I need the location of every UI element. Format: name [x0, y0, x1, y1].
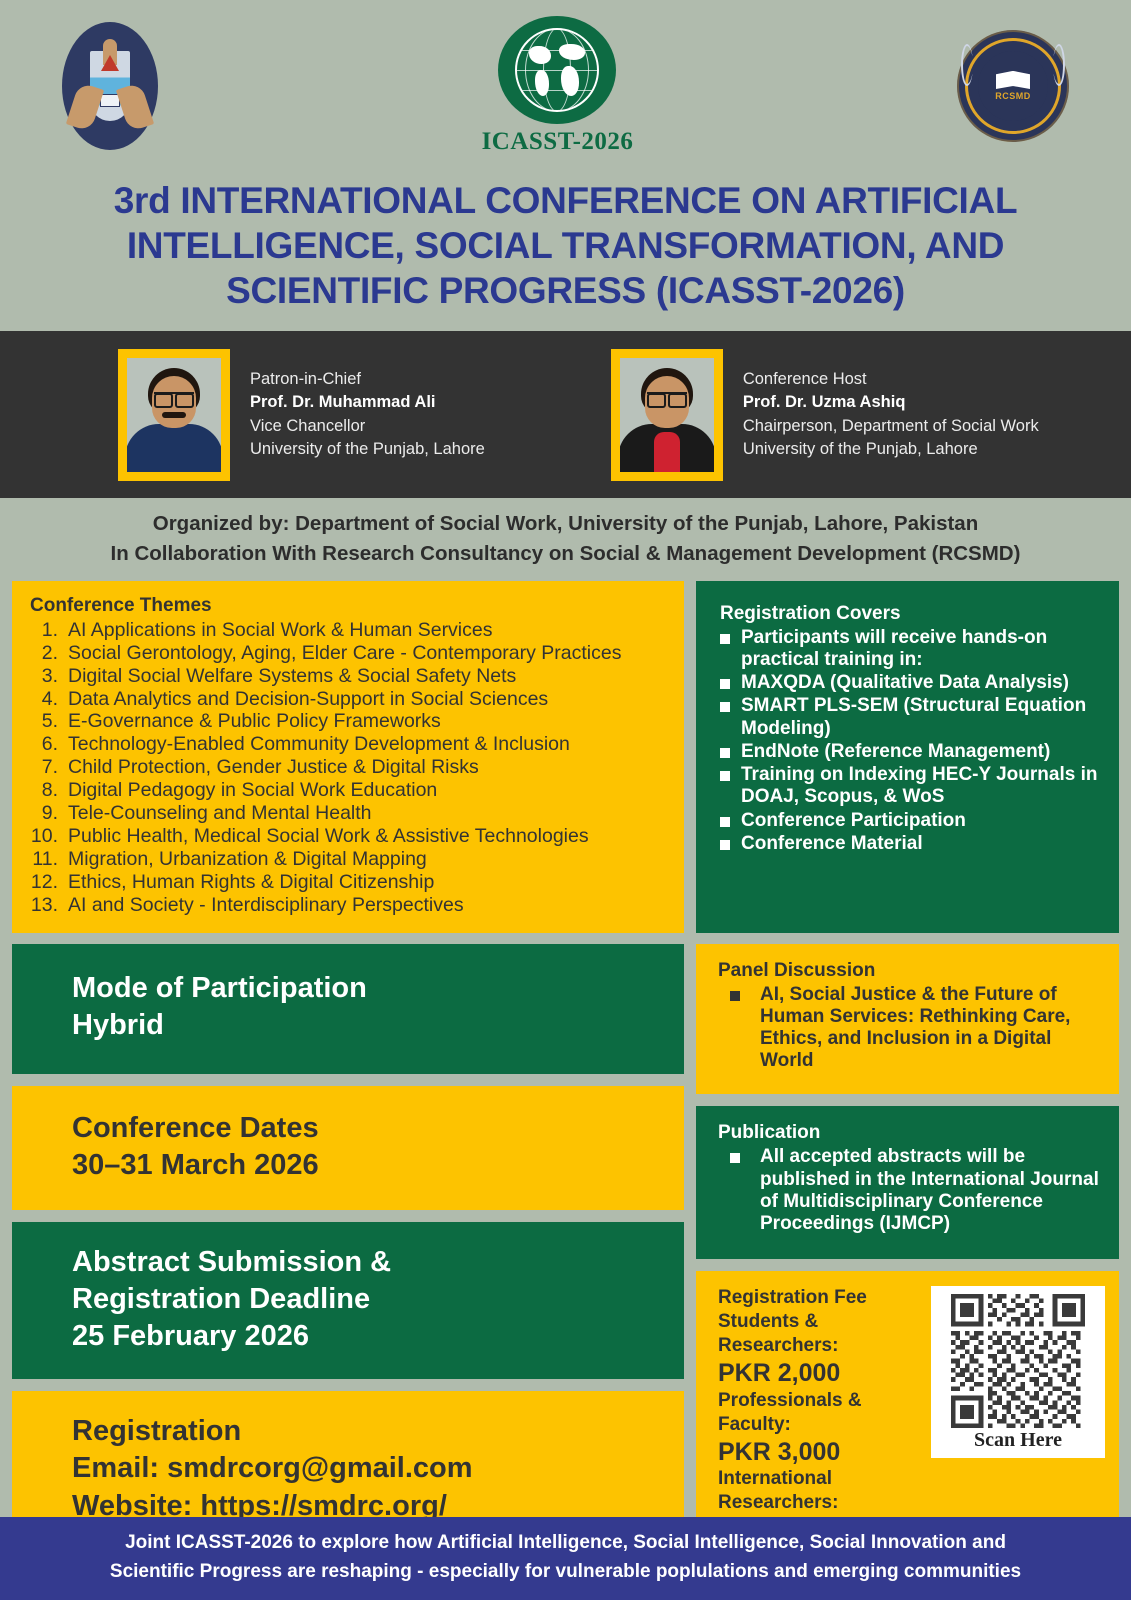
qr-code-icon[interactable] [940, 1294, 1096, 1428]
list-item: Training on Indexing HEC-Y Journals in D… [720, 764, 1101, 808]
rcsmd-logo-label: RCSMD [995, 91, 1031, 101]
deadline-value: 25 February 2026 [72, 1318, 662, 1355]
person-patron-in-chief: Patron-in-Chief Prof. Dr. Muhammad Ali V… [118, 349, 485, 481]
theme-text: Public Health, Medical Social Work & Ass… [68, 825, 589, 848]
theme-text: Data Analytics and Decision-Support in S… [68, 688, 548, 711]
footer-line1: Joint ICASST-2026 to explore how Artific… [24, 1529, 1107, 1558]
list-item: 8.Digital Pedagogy in Social Work Educat… [30, 779, 666, 802]
list-item: 6.Technology-Enabled Community Developme… [30, 733, 666, 756]
panel-discussion-panel: Panel Discussion AI, Social Justice & th… [696, 944, 1119, 1095]
list-item: 10.Public Health, Medical Social Work & … [30, 825, 666, 848]
organized-by-line2: In Collaboration With Research Consultan… [20, 539, 1111, 569]
list-item: All accepted abstracts will be published… [718, 1146, 1101, 1235]
list-item: Conference Participation [720, 810, 1101, 832]
mode-of-participation-title: Mode of Participation [72, 970, 662, 1007]
theme-number: 8. [30, 779, 68, 802]
list-item: EndNote (Reference Management) [720, 741, 1101, 763]
mode-of-participation-block: Mode of Participation Hybrid [12, 944, 684, 1074]
list-item: 12.Ethics, Human Rights & Digital Citize… [30, 871, 666, 894]
theme-text: Ethics, Human Rights & Digital Citizensh… [68, 871, 434, 894]
theme-number: 3. [30, 665, 68, 688]
fee-tier-label: International Researchers: [718, 1467, 923, 1515]
page-title: 3rd INTERNATIONAL CONFERENCE ON ARTIFICI… [0, 172, 1131, 331]
theme-text: Tele-Counseling and Mental Health [68, 802, 372, 825]
theme-number: 5. [30, 710, 68, 733]
list-item: 5.E-Governance & Public Policy Framework… [30, 710, 666, 733]
conference-dates-title: Conference Dates [72, 1110, 662, 1147]
content-row-themes: Conference Themes 1.AI Applications in S… [0, 581, 1131, 933]
theme-text: Social Gerontology, Aging, Elder Care - … [68, 642, 621, 665]
avatar [118, 349, 230, 481]
fee-tier-label: Professionals & Faculty: [718, 1389, 923, 1437]
avatar [611, 349, 723, 481]
fee-tier-amount: PKR 3,000 [718, 1437, 923, 1468]
theme-number: 12. [30, 871, 68, 894]
icasst-logo-label: ICASST-2026 [482, 128, 634, 156]
rcsmd-logo-icon: RCSMD [957, 30, 1069, 142]
list-item: 7.Child Protection, Gender Justice & Dig… [30, 756, 666, 779]
registration-covers-list: Participants will receive hands-on pract… [720, 627, 1101, 855]
registration-covers-title: Registration Covers [720, 603, 1101, 625]
theme-number: 10. [30, 825, 68, 848]
theme-number: 7. [30, 756, 68, 779]
theme-text: Child Protection, Gender Justice & Digit… [68, 756, 479, 779]
panel-discussion-title: Panel Discussion [718, 960, 1101, 982]
conference-themes-list: 1.AI Applications in Social Work & Human… [30, 619, 666, 917]
logo-bar: ICASST-2026 RCSMD [0, 0, 1131, 172]
conference-themes-panel: Conference Themes 1.AI Applications in S… [12, 581, 684, 933]
globe-icon [498, 16, 616, 124]
registration-title: Registration [72, 1413, 662, 1450]
bullet-square-icon [720, 840, 730, 850]
person-name: Prof. Dr. Uzma Ashiq [743, 391, 1039, 414]
person-conference-host: Conference Host Prof. Dr. Uzma Ashiq Cha… [611, 349, 1039, 481]
publication-title: Publication [718, 1122, 1101, 1144]
theme-number: 13. [30, 894, 68, 917]
list-item: Conference Material [720, 833, 1101, 855]
deadline-title-line2: Registration Deadline [72, 1281, 662, 1318]
person-name: Prof. Dr. Muhammad Ali [250, 391, 485, 414]
qr-code-box[interactable]: Scan Here [931, 1286, 1105, 1458]
bullet-square-icon [720, 679, 730, 689]
theme-text: AI and Society - Interdisciplinary Persp… [68, 894, 464, 917]
person-position: Vice Chancellor [250, 415, 485, 438]
theme-number: 4. [30, 688, 68, 711]
fee-tier-amount: PKR 2,000 [718, 1358, 923, 1389]
footer-banner: Joint ICASST-2026 to explore how Artific… [0, 1517, 1131, 1600]
bullet-square-icon [730, 1153, 740, 1163]
registration-email[interactable]: Email: smdrcorg@gmail.com [72, 1450, 662, 1487]
list-item: 9.Tele-Counseling and Mental Health [30, 802, 666, 825]
bullet-square-icon [720, 748, 730, 758]
conference-poster: ICASST-2026 RCSMD 3rd INTERNATIONAL CONF… [0, 0, 1131, 1600]
organized-by-line1: Organized by: Department of Social Work,… [20, 509, 1111, 539]
rcsmd-logo-slot: RCSMD [957, 30, 1069, 142]
bullet-square-icon [730, 991, 740, 1001]
theme-number: 1. [30, 619, 68, 642]
conference-themes-title: Conference Themes [30, 595, 666, 617]
theme-text: E-Governance & Public Policy Frameworks [68, 710, 441, 733]
fee-tier-label: Students & Researchers: [718, 1310, 923, 1358]
theme-text: Digital Pedagogy in Social Work Educatio… [68, 779, 437, 802]
list-item: 1.AI Applications in Social Work & Human… [30, 619, 666, 642]
university-of-the-punjab-crest-icon [62, 22, 158, 150]
content-row-details: Mode of Participation Hybrid Conference … [0, 944, 1131, 1600]
theme-text: Migration, Urbanization & Digital Mappin… [68, 848, 427, 871]
person-position: Chairperson, Department of Social Work [743, 415, 1039, 438]
person-role: Patron-in-Chief [250, 368, 485, 391]
university-of-the-punjab-crest-slot [62, 22, 158, 150]
list-item: 3.Digital Social Welfare Systems & Socia… [30, 665, 666, 688]
person-role: Conference Host [743, 368, 1039, 391]
footer-line2: Scientific Progress are reshaping - espe… [24, 1558, 1107, 1587]
person-affiliation: University of the Punjab, Lahore [743, 438, 1039, 461]
list-item: MAXQDA (Qualitative Data Analysis) [720, 672, 1101, 694]
theme-number: 6. [30, 733, 68, 756]
bullet-square-icon [720, 817, 730, 827]
dignitaries-band: Patron-in-Chief Prof. Dr. Muhammad Ali V… [0, 331, 1131, 498]
publication-list: All accepted abstracts will be published… [718, 1146, 1101, 1235]
theme-number: 2. [30, 642, 68, 665]
list-item: 2.Social Gerontology, Aging, Elder Care … [30, 642, 666, 665]
theme-number: 11. [30, 848, 68, 871]
deadline-block: Abstract Submission & Registration Deadl… [12, 1222, 684, 1379]
list-item: 11.Migration, Urbanization & Digital Map… [30, 848, 666, 871]
registration-fee-title: Registration Fee [718, 1286, 923, 1310]
bullet-square-icon [720, 702, 730, 712]
deadline-title-line1: Abstract Submission & [72, 1244, 662, 1281]
panel-discussion-list: AI, Social Justice & the Future of Human… [718, 984, 1101, 1073]
bullet-square-icon [720, 771, 730, 781]
icasst-logo-slot: ICASST-2026 [482, 16, 634, 156]
theme-number: 9. [30, 802, 68, 825]
conference-dates-block: Conference Dates 30–31 March 2026 [12, 1086, 684, 1210]
list-item: SMART PLS-SEM (Structural Equation Model… [720, 695, 1101, 739]
list-item: 13.AI and Society - Interdisciplinary Pe… [30, 894, 666, 917]
qr-code-caption: Scan Here [974, 1429, 1062, 1452]
theme-text: Technology-Enabled Community Development… [68, 733, 570, 756]
list-item: AI, Social Justice & the Future of Human… [718, 984, 1101, 1073]
bullet-square-icon [720, 634, 730, 644]
publication-panel: Publication All accepted abstracts will … [696, 1106, 1119, 1259]
conference-dates-value: 30–31 March 2026 [72, 1147, 662, 1184]
list-item: Participants will receive hands-on pract… [720, 627, 1101, 671]
theme-text: Digital Social Welfare Systems & Social … [68, 665, 516, 688]
mode-of-participation-value: Hybrid [72, 1007, 662, 1044]
list-item: 4.Data Analytics and Decision-Support in… [30, 688, 666, 711]
theme-text: AI Applications in Social Work & Human S… [68, 619, 493, 642]
person-affiliation: University of the Punjab, Lahore [250, 438, 485, 461]
organized-by: Organized by: Department of Social Work,… [0, 498, 1131, 580]
registration-covers-panel: Registration Covers Participants will re… [696, 581, 1119, 933]
